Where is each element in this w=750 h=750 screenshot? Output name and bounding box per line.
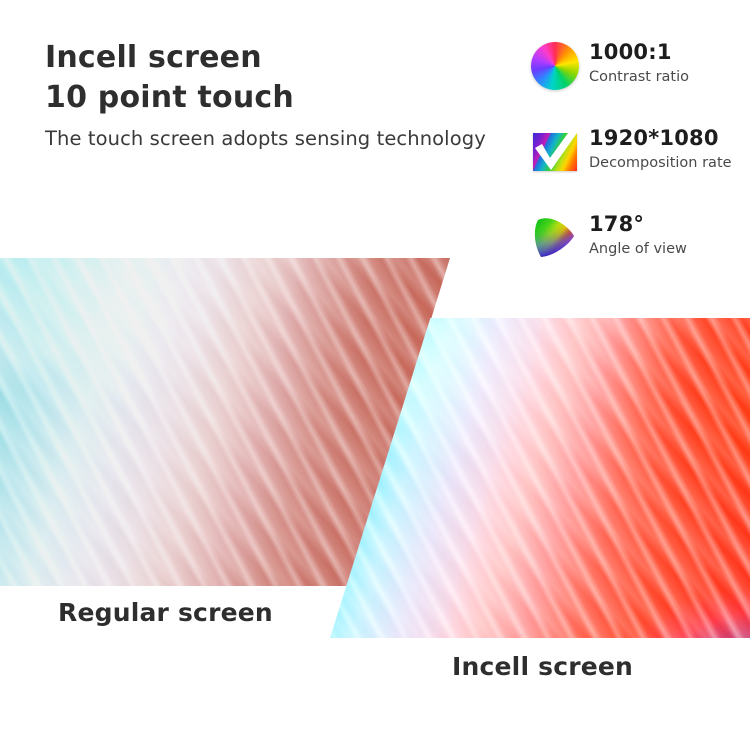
spec-list: 1000:1 Contrast ratio 1920*1080 Decompos… <box>531 40 750 298</box>
spec-caption-decomposition-rate: Decomposition rate <box>589 154 732 172</box>
spec-text-contrast-ratio: 1000:1 Contrast ratio <box>589 40 689 86</box>
viewing-cone-icon <box>531 214 579 262</box>
spec-item-contrast-ratio: 1000:1 Contrast ratio <box>531 40 750 102</box>
spec-text-angle-of-view: 178° Angle of view <box>589 212 687 258</box>
chromaticity-shape <box>531 214 579 262</box>
spec-item-decomposition-rate: 1920*1080 Decomposition rate <box>531 126 750 188</box>
color-wheel-icon <box>531 42 579 90</box>
spec-value-decomposition-rate: 1920*1080 <box>589 126 732 151</box>
spec-caption-angle-of-view: Angle of view <box>589 240 687 258</box>
spec-text-decomposition-rate: 1920*1080 Decomposition rate <box>589 126 732 172</box>
headline-block: Incell screen 10 point touch The touch s… <box>45 38 525 150</box>
headline-subtitle: The touch screen adopts sensing technolo… <box>45 127 525 150</box>
panel-label-incell: Incell screen <box>452 652 633 681</box>
spec-item-angle-of-view: 178° Angle of view <box>531 212 750 274</box>
spec-caption-contrast-ratio: Contrast ratio <box>589 68 689 86</box>
rainbow-check-icon <box>531 128 579 176</box>
headline-line-2: 10 point touch <box>45 78 525 118</box>
checkmark-glyph <box>531 128 579 176</box>
headline-line-1: Incell screen <box>45 38 525 78</box>
panel-label-regular: Regular screen <box>58 598 273 627</box>
spec-value-contrast-ratio: 1000:1 <box>589 40 689 65</box>
product-banner: Incell screen 10 point touch The touch s… <box>0 0 750 750</box>
spec-value-angle-of-view: 178° <box>589 212 687 237</box>
